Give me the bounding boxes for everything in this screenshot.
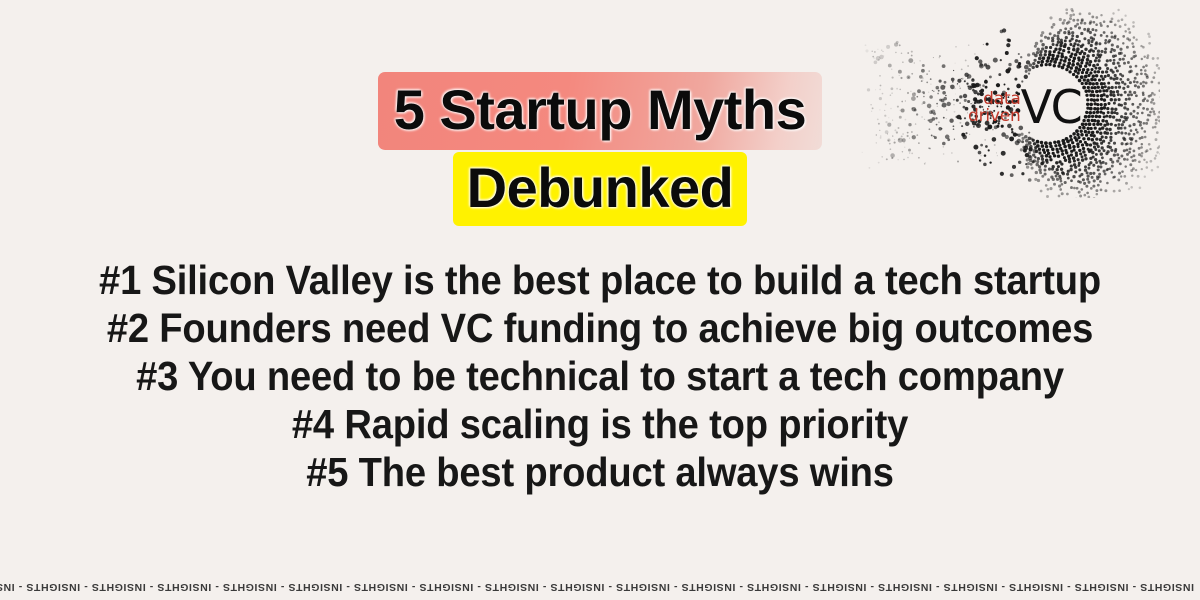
page-title: 5 Startup Myths Debunked [0, 72, 1200, 226]
title-highlight-yellow: Debunked [453, 152, 748, 226]
list-item: #1 Silicon Valley is the best place to b… [42, 256, 1158, 304]
watermark-bottom: INSIGHTS - INSIGHTS - INSIGHTS - INSIGHT… [0, 574, 1200, 600]
title-line-2: Debunked [0, 152, 1200, 226]
title-line-1: 5 Startup Myths [0, 72, 1200, 150]
slide-canvas: data driven VC 5 Startup Myths Debunked … [0, 0, 1200, 600]
title-highlight-salmon: 5 Startup Myths [378, 72, 823, 150]
list-item: #4 Rapid scaling is the top priority [42, 400, 1158, 448]
list-item: #2 Founders need VC funding to achieve b… [42, 304, 1158, 352]
myth-list: #1 Silicon Valley is the best place to b… [0, 256, 1200, 496]
list-item: #3 You need to be technical to start a t… [42, 352, 1158, 400]
list-item: #5 The best product always wins [42, 448, 1158, 496]
